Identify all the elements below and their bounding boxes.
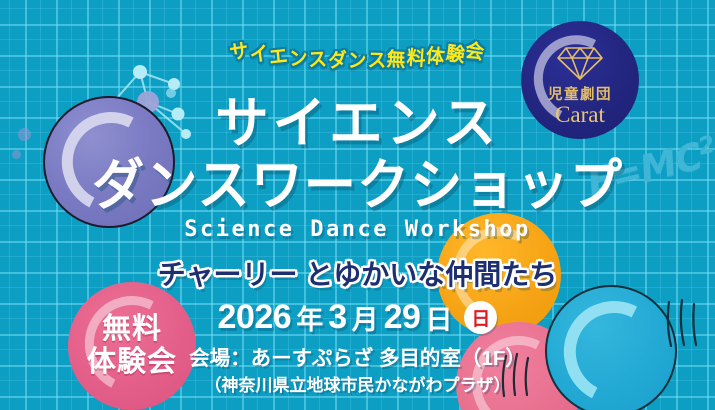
event-date-line: 2026 年 3 月 29 日 日 (0, 298, 715, 337)
event-day-unit: 日 (422, 298, 455, 337)
flyer-content: サイエンスダンス無料体験会 サイエンス ダンスワークショップ Science D… (0, 0, 715, 410)
subtitle-english: Science Dance Workshop (0, 217, 715, 242)
eyebrow-text: サイエンスダンス無料体験会 (14, 44, 700, 73)
eyebrow-char: ン (348, 44, 368, 73)
event-flyer: E=MC2 (0, 0, 715, 410)
eyebrow-char: 無 (386, 42, 407, 72)
eyebrow-char: 会 (464, 34, 488, 66)
event-year: 2026 (218, 298, 292, 337)
venue-line: 会場：あーすぷらざ 多目的室（1F） (0, 341, 715, 371)
eyebrow-char: エ (267, 39, 289, 70)
event-month-unit: 月 (349, 298, 382, 337)
eyebrow-char: ダ (328, 43, 348, 73)
eyebrow-char: ス (308, 42, 329, 72)
eyebrow-char: ン (287, 41, 309, 72)
event-year-unit: 年 (293, 298, 326, 337)
day-of-week-badge: 日 (464, 301, 497, 334)
event-day: 29 (384, 298, 421, 337)
eyebrow-char: ス (367, 43, 387, 73)
event-month: 3 (328, 298, 346, 337)
subtitle-japanese: チャーリー とゆかいな仲間たち (0, 253, 715, 293)
venue-sub-line: （神奈川県立地球市民かながわプラザ） (0, 371, 715, 396)
page-title-line2: ダンスワークショップ (18, 140, 697, 220)
